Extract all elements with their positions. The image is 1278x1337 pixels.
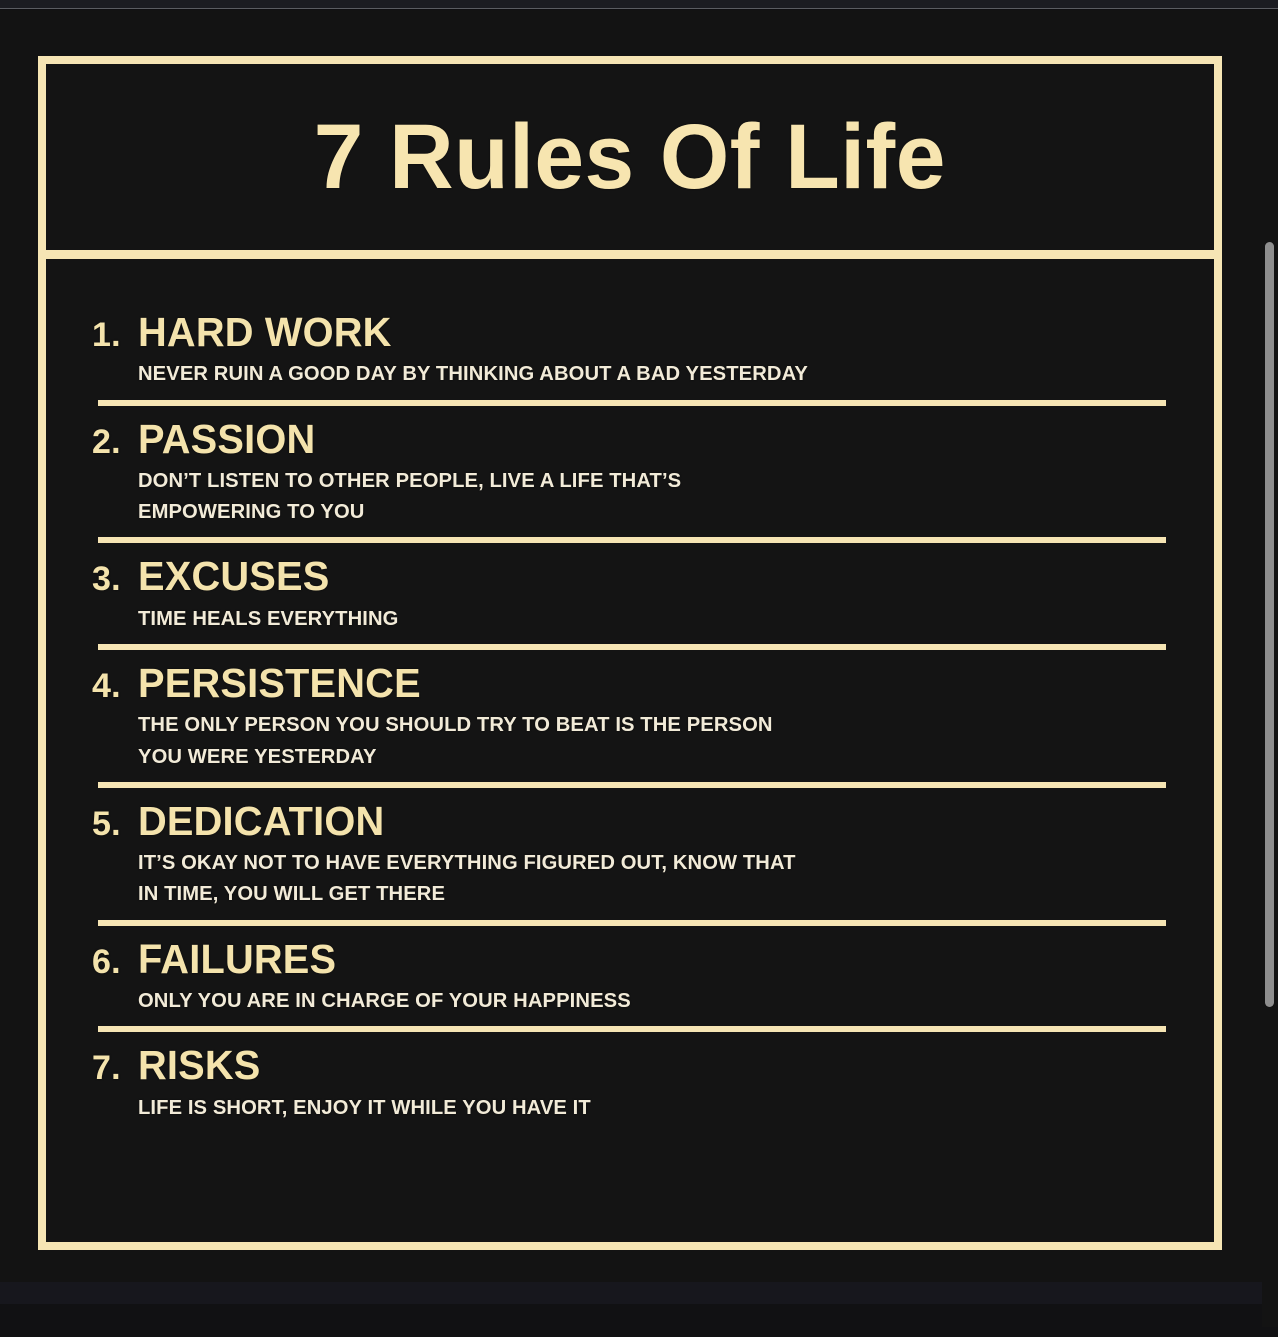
list-item: 1. HARD WORK NEVER RUIN A GOOD DAY BY TH… — [46, 311, 1214, 390]
rule-title: FAILURES — [138, 938, 336, 981]
rule-title: EXCUSES — [138, 555, 329, 598]
rule-title: DEDICATION — [138, 800, 384, 843]
list-item: 3. EXCUSES TIME HEALS EVERYTHING — [46, 555, 1214, 634]
list-item: 6. FAILURES ONLY YOU ARE IN CHARGE OF YO… — [46, 938, 1214, 1017]
rule-heading: 5. DEDICATION — [92, 800, 1214, 843]
rule-divider — [98, 782, 1166, 788]
rule-number: 3. — [92, 561, 138, 597]
rule-number: 4. — [92, 668, 138, 704]
rules-list: 1. HARD WORK NEVER RUIN A GOOD DAY BY TH… — [46, 259, 1214, 1242]
rule-heading: 4. PERSISTENCE — [92, 662, 1214, 705]
rule-divider — [98, 920, 1166, 926]
rule-description: TIME HEALS EVERYTHING — [138, 603, 1198, 634]
rule-heading: 1. HARD WORK — [92, 311, 1214, 354]
rule-heading: 3. EXCUSES — [92, 555, 1214, 598]
vertical-scrollbar[interactable] — [1262, 10, 1278, 1327]
rule-description: IT’S OKAY NOT TO HAVE EVERYTHING FIGURED… — [138, 847, 1198, 909]
rule-divider — [98, 537, 1166, 543]
page-canvas: 7 Rules Of Life 1. HARD WORK NEVER RUIN … — [0, 10, 1278, 1327]
rule-title: RISKS — [138, 1044, 261, 1087]
browser-chrome-edge — [0, 0, 1278, 9]
page-bottom-band-lower — [0, 1304, 1278, 1337]
list-item: 7. RISKS LIFE IS SHORT, ENJOY IT WHILE Y… — [46, 1044, 1214, 1123]
page-bottom-band — [0, 1282, 1278, 1304]
rule-divider — [98, 644, 1166, 650]
rule-description: ONLY YOU ARE IN CHARGE OF YOUR HAPPINESS — [138, 985, 1198, 1016]
rule-description: LIFE IS SHORT, ENJOY IT WHILE YOU HAVE I… — [138, 1092, 1198, 1123]
scrollbar-thumb-icon[interactable] — [1265, 242, 1274, 1007]
rule-number: 7. — [92, 1050, 138, 1086]
rule-heading: 2. PASSION — [92, 418, 1214, 461]
rule-divider — [98, 1026, 1166, 1032]
list-item: 2. PASSION DON’T LISTEN TO OTHER PEOPLE,… — [46, 418, 1214, 528]
rule-description: NEVER RUIN A GOOD DAY BY THINKING ABOUT … — [138, 358, 1198, 389]
rule-number: 1. — [92, 317, 138, 353]
list-item: 4. PERSISTENCE THE ONLY PERSON YOU SHOUL… — [46, 662, 1214, 772]
rule-description: THE ONLY PERSON YOU SHOULD TRY TO BEAT I… — [138, 709, 1198, 771]
rule-title: PASSION — [138, 418, 315, 461]
rule-description: DON’T LISTEN TO OTHER PEOPLE, LIVE A LIF… — [138, 465, 1198, 527]
rules-poster: 7 Rules Of Life 1. HARD WORK NEVER RUIN … — [38, 56, 1222, 1250]
list-item: 5. DEDICATION IT’S OKAY NOT TO HAVE EVER… — [46, 800, 1214, 910]
page-title: 7 Rules Of Life — [314, 111, 946, 203]
rule-title: PERSISTENCE — [138, 662, 421, 705]
poster-title-container: 7 Rules Of Life — [46, 64, 1214, 259]
rule-title: HARD WORK — [138, 311, 392, 354]
rule-number: 2. — [92, 424, 138, 460]
rule-heading: 6. FAILURES — [92, 938, 1214, 981]
rule-heading: 7. RISKS — [92, 1044, 1214, 1087]
rule-number: 5. — [92, 806, 138, 842]
rule-number: 6. — [92, 944, 138, 980]
rule-divider — [98, 400, 1166, 406]
